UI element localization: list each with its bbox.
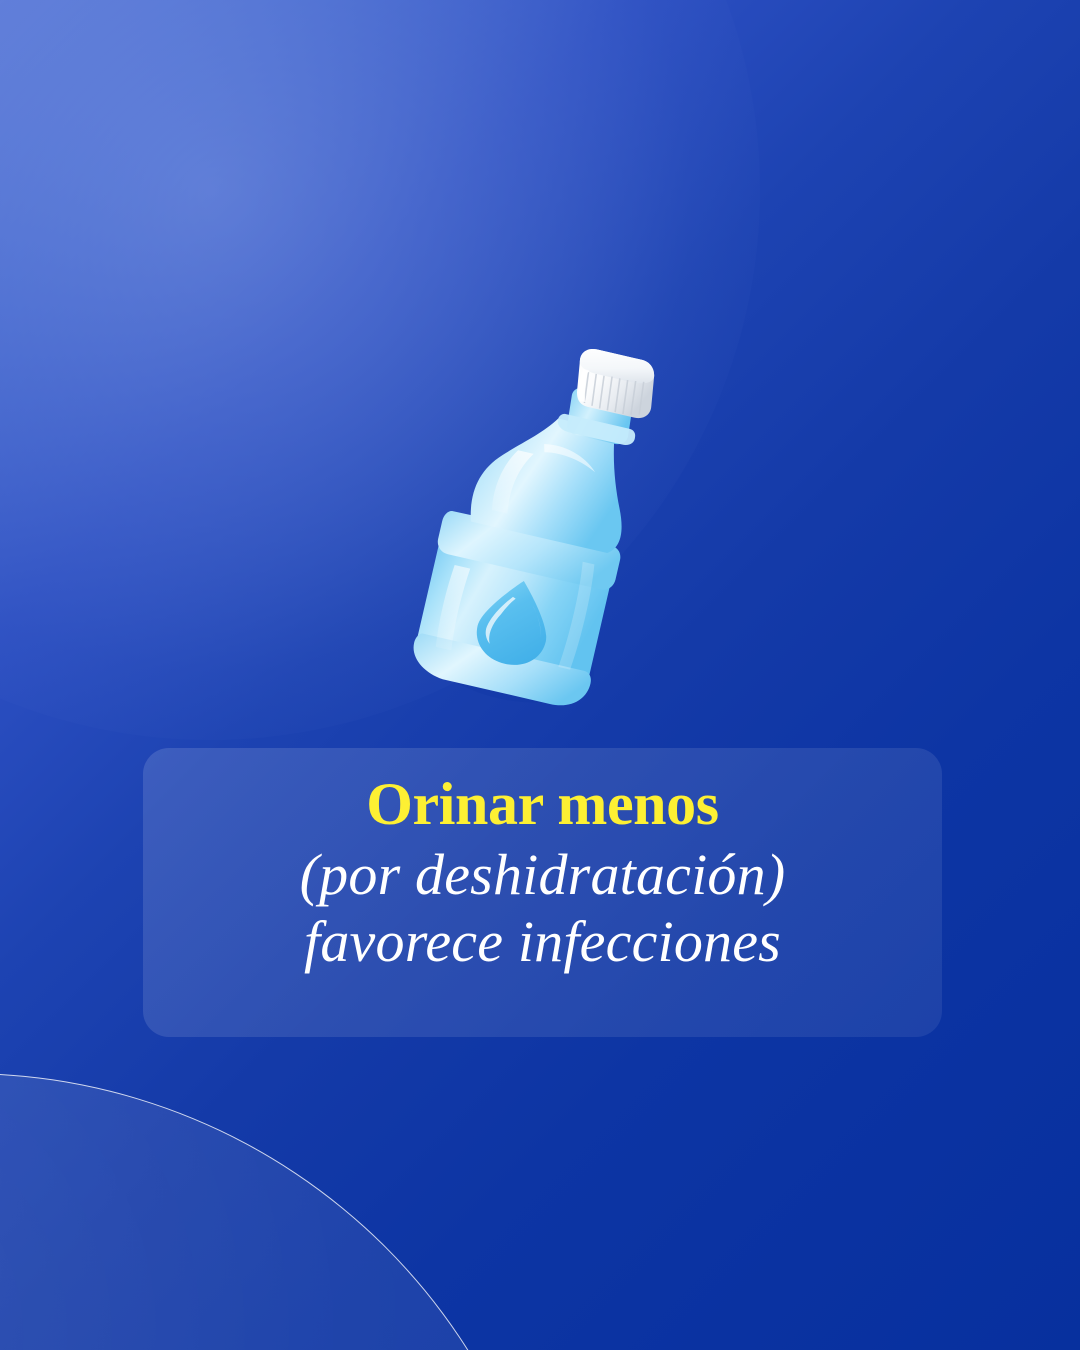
caption-card: Orinar menos (por deshidratación) favore… bbox=[143, 748, 942, 1037]
poster-canvas: Orinar menos (por deshidratación) favore… bbox=[0, 0, 1080, 1350]
water-bottle-illustration bbox=[369, 335, 700, 730]
subline-text-2: favorece infecciones bbox=[304, 909, 781, 975]
bottom-left-outline-circle bbox=[0, 1073, 560, 1350]
headline-text: Orinar menos bbox=[366, 774, 718, 836]
subline-text-1: (por deshidratación) bbox=[300, 842, 786, 908]
